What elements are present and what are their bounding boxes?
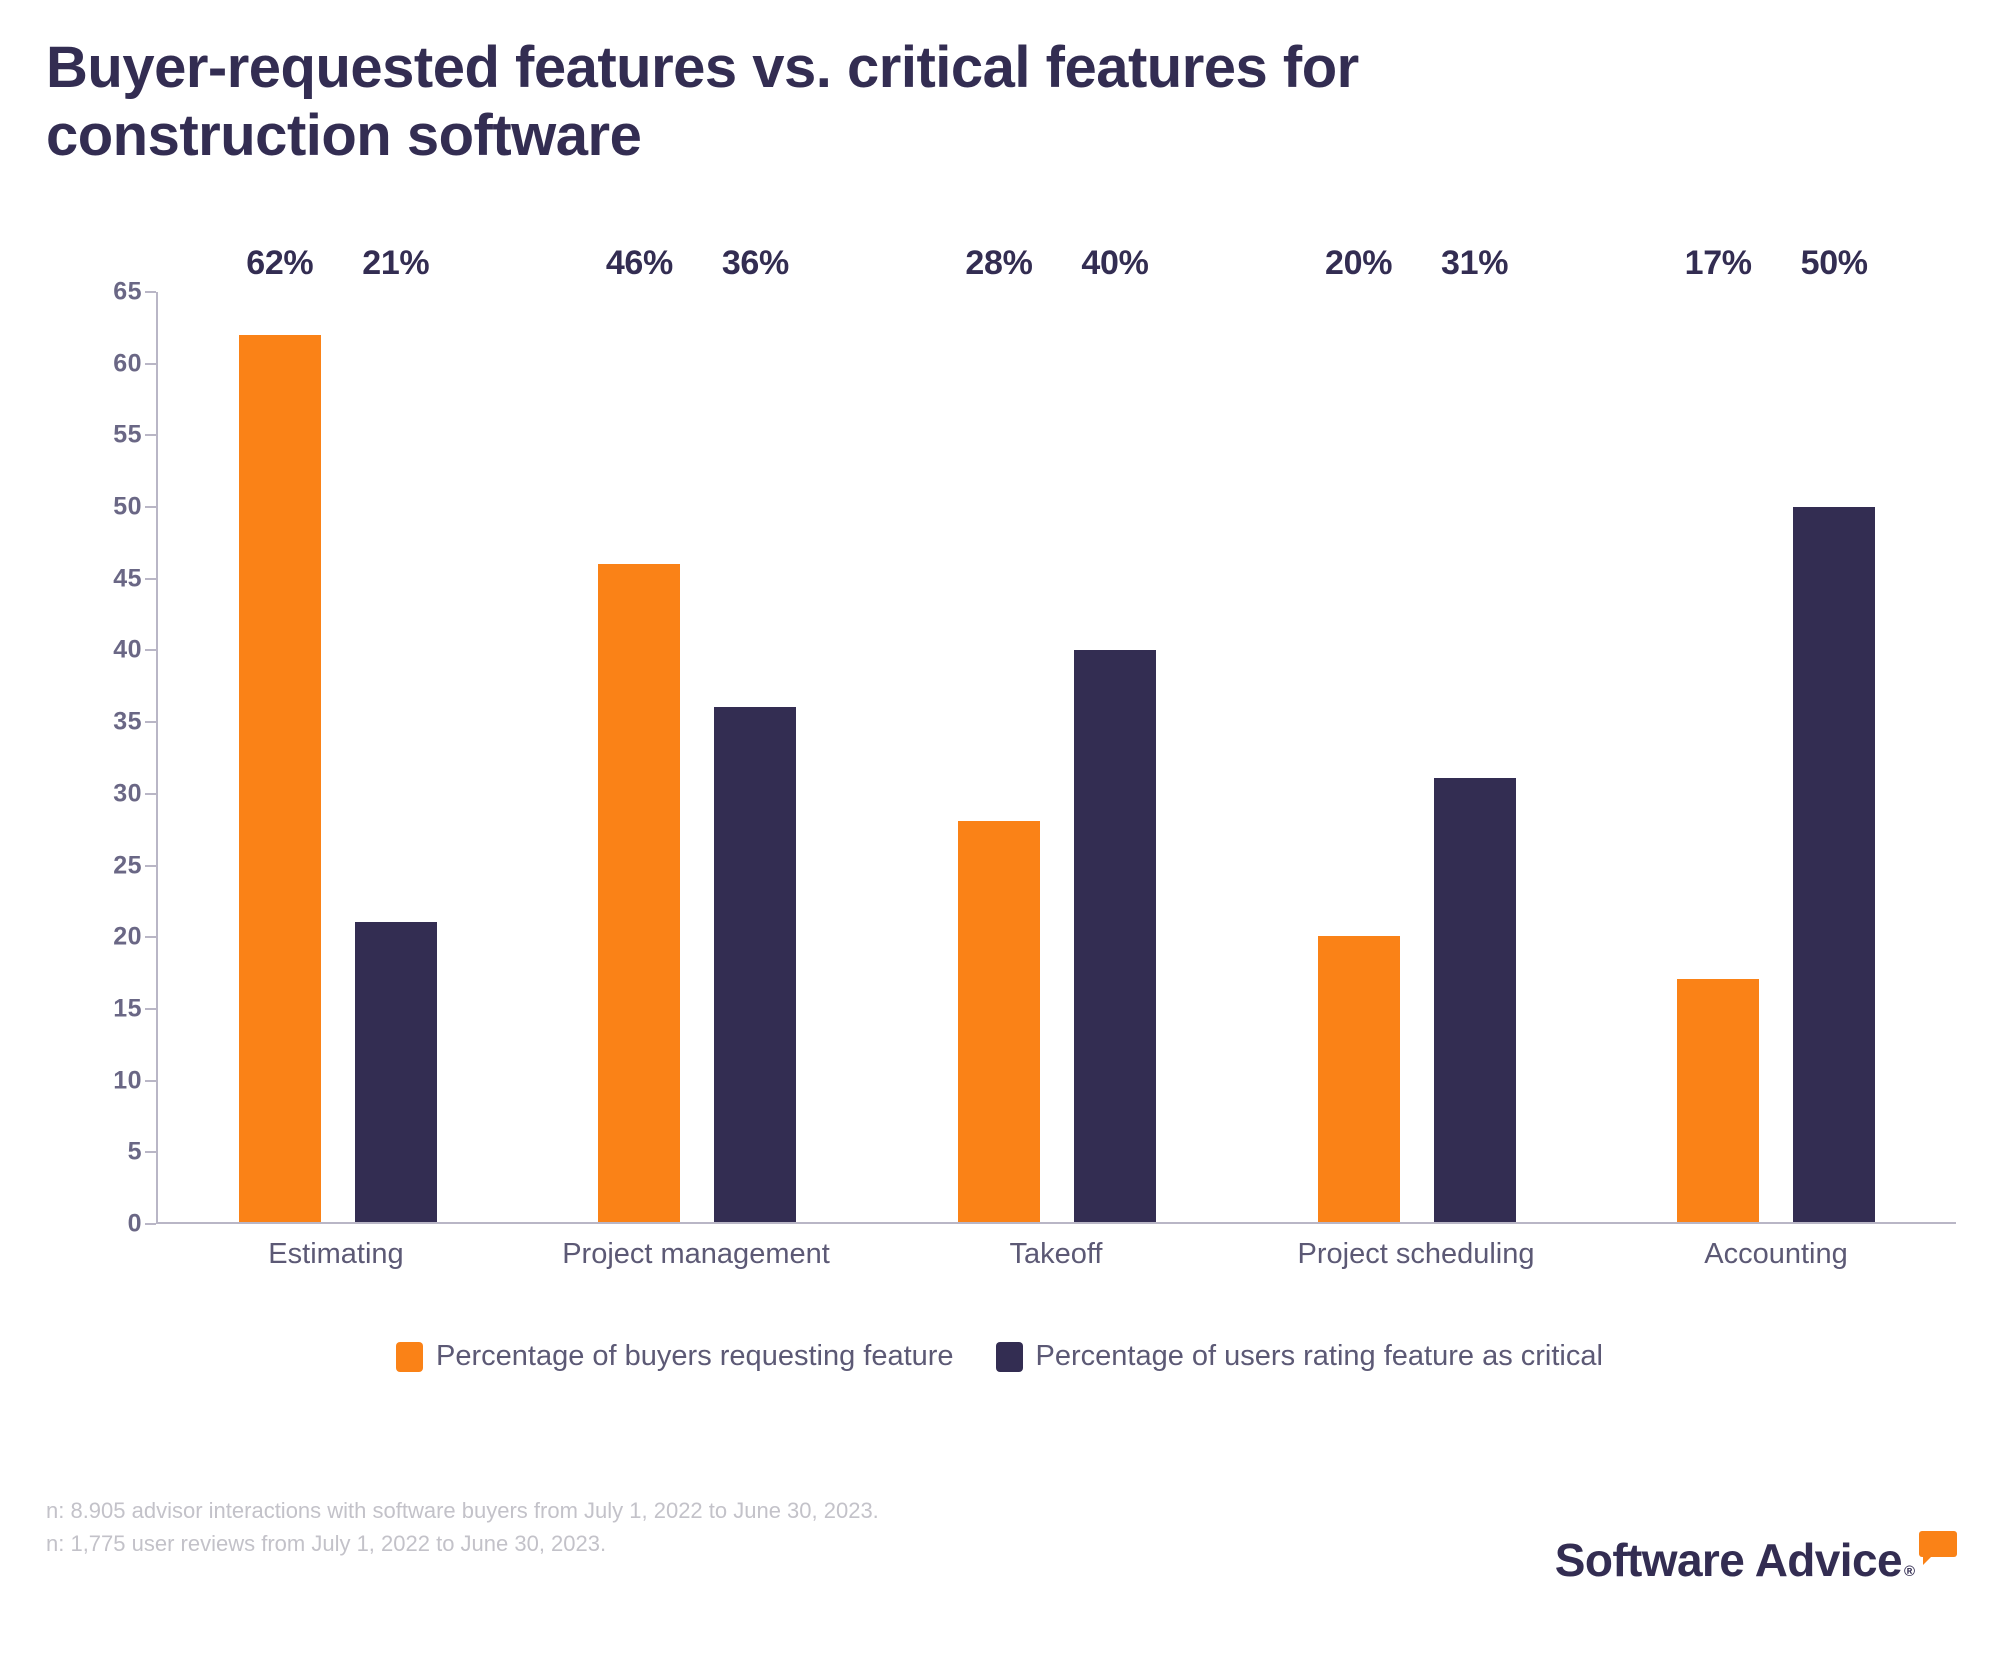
y-axis-tick-mark <box>145 721 156 723</box>
bar-value-label: 21% <box>362 244 429 283</box>
bar-group: 17%50% <box>1596 292 1956 1222</box>
bar-column[interactable]: 17% <box>1677 292 1759 1222</box>
bar-value-label: 17% <box>1685 244 1752 283</box>
y-axis-tick-mark <box>145 434 156 436</box>
y-axis-tick-label: 5 <box>128 1138 142 1167</box>
bar-column[interactable]: 21% <box>355 292 437 1222</box>
bar-value-label: 31% <box>1441 244 1508 283</box>
x-axis-category-label: Project management <box>516 1224 876 1280</box>
x-axis-category-label: Accounting <box>1596 1224 1956 1280</box>
y-axis-tick-mark <box>145 793 156 795</box>
y-axis-tick-label: 10 <box>113 1066 142 1095</box>
bar[interactable]: 50% <box>1793 507 1875 1222</box>
bar-column[interactable]: 28% <box>958 292 1040 1222</box>
y-axis-tick-label: 60 <box>113 349 142 378</box>
bar-group: 62%21% <box>158 292 518 1222</box>
legend-item[interactable]: Percentage of users rating feature as cr… <box>996 1340 1603 1373</box>
y-axis-tick-mark <box>145 865 156 867</box>
legend-label: Percentage of users rating feature as cr… <box>1036 1340 1603 1373</box>
x-axis-category-label: Project scheduling <box>1236 1224 1596 1280</box>
legend-item[interactable]: Percentage of buyers requesting feature <box>396 1340 954 1373</box>
x-axis-category-label: Estimating <box>156 1224 516 1280</box>
bar-column[interactable]: 31% <box>1434 292 1516 1222</box>
plot-area: 62%21%46%36%28%40%20%31%17%50% <box>156 292 1956 1224</box>
bar-column[interactable]: 20% <box>1318 292 1400 1222</box>
y-axis-tick-label: 45 <box>113 564 142 593</box>
page-title: Buyer-requested features vs. critical fe… <box>46 34 1946 170</box>
y-axis-tick-mark <box>145 363 156 365</box>
y-axis-tick-label: 15 <box>113 994 142 1023</box>
y-axis-tick-mark <box>145 1223 156 1225</box>
bar[interactable]: 36% <box>714 707 796 1222</box>
bar[interactable]: 62% <box>239 335 321 1222</box>
software-advice-logo: Software Advice ® <box>1555 1537 1957 1583</box>
chart-legend: Percentage of buyers requesting featureP… <box>0 1340 1999 1373</box>
y-axis-tick-label: 65 <box>113 278 142 307</box>
legend-label: Percentage of buyers requesting feature <box>436 1340 954 1373</box>
bar[interactable]: 31% <box>1434 778 1516 1222</box>
bar-column[interactable]: 40% <box>1074 292 1156 1222</box>
y-axis-tick-label: 35 <box>113 708 142 737</box>
y-axis-tick-label: 25 <box>113 851 142 880</box>
y-axis-tick-label: 20 <box>113 923 142 952</box>
bar-value-label: 46% <box>606 244 673 283</box>
bar-groups: 62%21%46%36%28%40%20%31%17%50% <box>158 292 1956 1222</box>
bar[interactable]: 21% <box>355 922 437 1222</box>
bar-chart: 05101520253035404550556065 62%21%46%36%2… <box>46 280 1956 1280</box>
speech-bubble-icon <box>1919 1531 1957 1557</box>
bar-value-label: 28% <box>965 244 1032 283</box>
bar-group: 46%36% <box>518 292 878 1222</box>
bar-group: 28%40% <box>877 292 1237 1222</box>
bar-group: 20%31% <box>1237 292 1597 1222</box>
bar-value-label: 36% <box>722 244 789 283</box>
registered-trademark-icon: ® <box>1904 1563 1915 1580</box>
bar-value-label: 62% <box>246 244 313 283</box>
bar-column[interactable]: 50% <box>1793 292 1875 1222</box>
bar-value-label: 50% <box>1801 244 1868 283</box>
bar[interactable]: 17% <box>1677 979 1759 1222</box>
logo-wordmark: Software Advice <box>1555 1537 1902 1583</box>
y-axis-tick-label: 55 <box>113 421 142 450</box>
y-axis: 05101520253035404550556065 <box>46 292 156 1224</box>
bar-value-label: 20% <box>1325 244 1392 283</box>
bar-column[interactable]: 46% <box>598 292 680 1222</box>
y-axis-tick-mark <box>145 1151 156 1153</box>
y-axis-tick-mark <box>145 1008 156 1010</box>
x-axis-category-label: Takeoff <box>876 1224 1236 1280</box>
y-axis-tick-mark <box>145 936 156 938</box>
bar-column[interactable]: 62% <box>239 292 321 1222</box>
y-axis-tick-label: 30 <box>113 779 142 808</box>
bar[interactable]: 20% <box>1318 936 1400 1222</box>
bar-column[interactable]: 36% <box>714 292 796 1222</box>
footnotes: n: 8.905 advisor interactions with softw… <box>46 1495 879 1560</box>
legend-color-swatch <box>996 1342 1023 1372</box>
footnote-line: n: 1,775 user reviews from July 1, 2022 … <box>46 1528 879 1561</box>
y-axis-tick-mark <box>145 1080 156 1082</box>
y-axis-tick-label: 0 <box>128 1210 142 1239</box>
y-axis-tick-mark <box>145 291 156 293</box>
y-axis-tick-mark <box>145 578 156 580</box>
y-axis-tick-label: 40 <box>113 636 142 665</box>
footnote-line: n: 8.905 advisor interactions with softw… <box>46 1495 879 1528</box>
bar[interactable]: 40% <box>1074 650 1156 1222</box>
bar[interactable]: 28% <box>958 821 1040 1222</box>
x-axis-labels: EstimatingProject managementTakeoffProje… <box>156 1224 1956 1280</box>
y-axis-tick-mark <box>145 506 156 508</box>
bar-value-label: 40% <box>1081 244 1148 283</box>
y-axis-tick-mark <box>145 649 156 651</box>
bar[interactable]: 46% <box>598 564 680 1222</box>
y-axis-tick-label: 50 <box>113 493 142 522</box>
legend-color-swatch <box>396 1342 423 1372</box>
